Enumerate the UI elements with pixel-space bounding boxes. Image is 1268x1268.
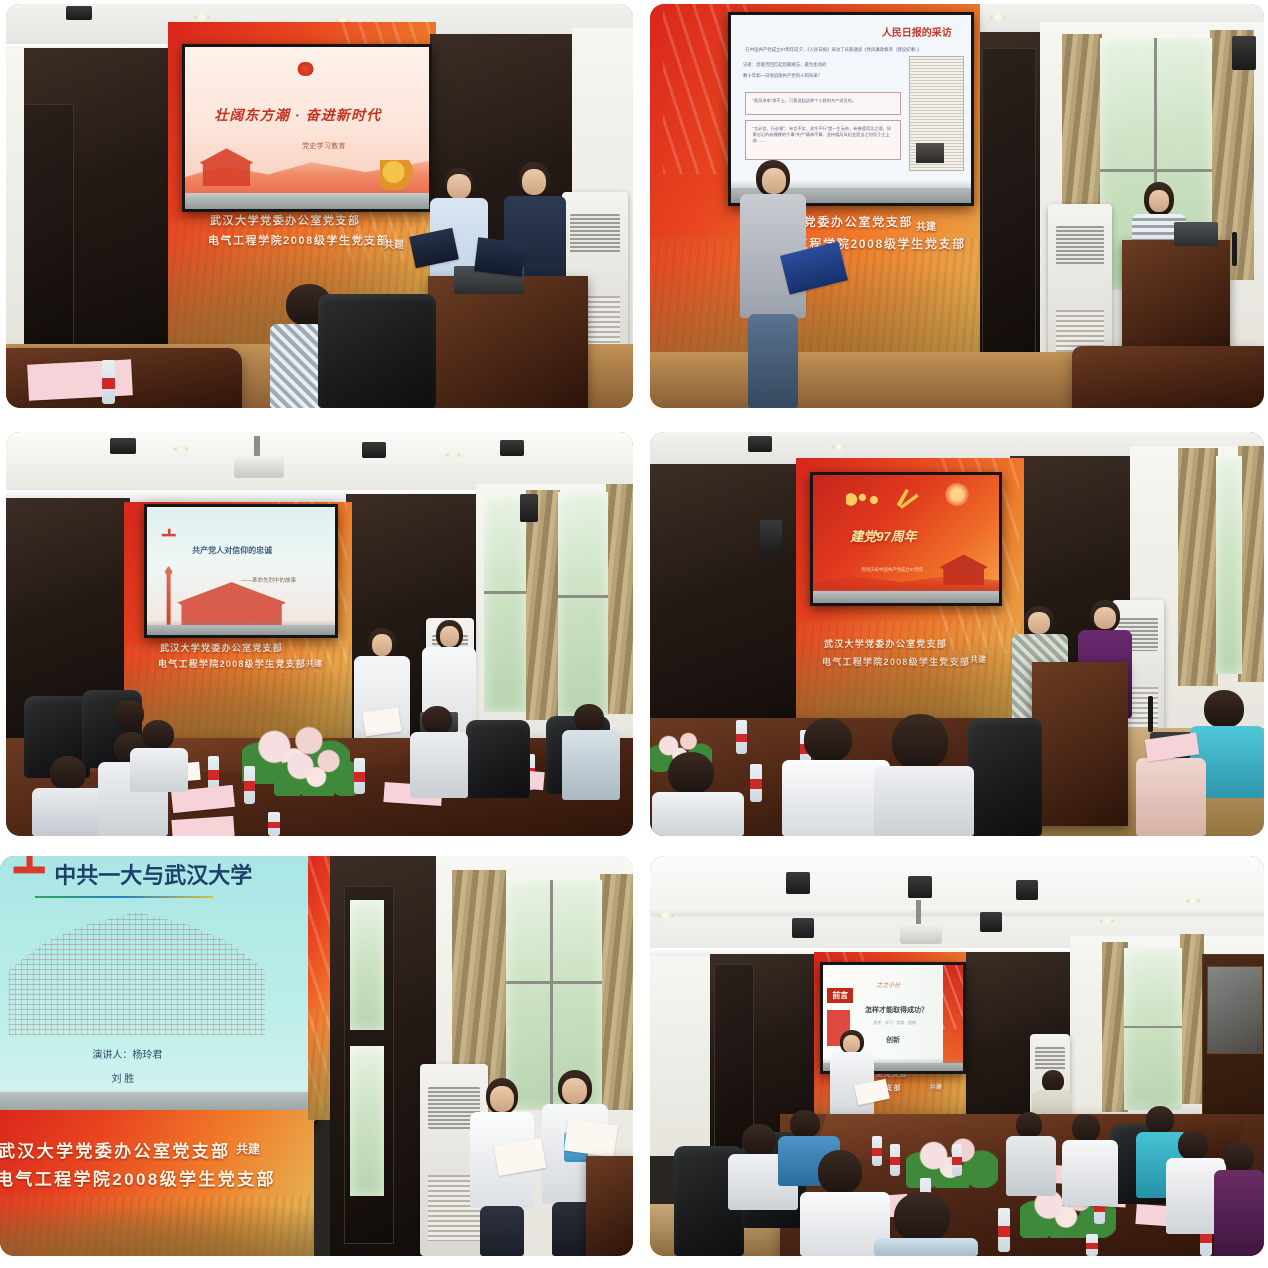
banner-line-2: 电气工程学院2008级学生党支部 (0, 1168, 276, 1193)
scene-5: 中共一大与武汉大学 演讲人：杨玲君 刘 胜 武汉大学党委办公室党支部 电气工程学… (0, 856, 633, 1256)
slide-line-1: 在中国共产党成立97周年前夕，《人民日报》采访了长期通读《党风廉政教育（建设纪事… (745, 47, 921, 53)
quote-box-2: "言必信、行必果"，有言不实、坐令不行"是一生无奈，有善德用功之理，如果忘记的赤… (745, 120, 901, 160)
water-bottle (268, 812, 280, 836)
head (1072, 1114, 1100, 1142)
torso (652, 792, 744, 836)
torso (32, 788, 108, 836)
ceiling-speaker (980, 912, 1002, 932)
attendee (130, 720, 188, 792)
water-bottle (998, 1208, 1010, 1252)
face (1149, 190, 1169, 212)
head (668, 752, 714, 794)
window (1216, 456, 1242, 674)
banner-line-1: 武汉大学党委办公室党支部 (0, 1140, 231, 1165)
handout (171, 816, 234, 836)
scene-4: 武汉大学党委办公室党支部 电气工程学院2008级学生党支部 共建 建党97周年 … (650, 432, 1264, 836)
banner-badge: 共建 (970, 654, 986, 665)
window (558, 492, 608, 716)
water-bottle (1086, 1234, 1098, 1256)
torso (1006, 1136, 1056, 1196)
window-mullion (558, 595, 608, 598)
head (1178, 1130, 1208, 1160)
attendee (562, 704, 620, 800)
divider (35, 896, 213, 898)
curtain (526, 490, 560, 720)
projector-mount (916, 900, 921, 926)
slide-line-3: 数十年如一日地追随共产党的人和风采？ (743, 73, 822, 79)
microphone[interactable] (1148, 696, 1153, 732)
slide-title: 壮阔东方潮 · 奋进新时代 (214, 105, 381, 125)
face (843, 1035, 860, 1053)
ceiling-speaker (786, 872, 810, 894)
downlight (658, 912, 674, 919)
window-mullion (484, 591, 526, 594)
flower-arrangement (274, 746, 362, 796)
attendee (32, 756, 108, 836)
newspaper-clipping (909, 56, 964, 171)
attendee (1006, 1112, 1056, 1196)
projection-screen-frame: 建党97周年 热烈庆祝中国共产党成立97周年 (810, 472, 1002, 606)
projection-screen: 共产党人对信仰的忠诚 ——革命先烈中的故事 (147, 507, 335, 635)
scene-2: 学党委办公室党支部 气工程学院2008级学生党支部 共建 人民日报的采访 在中国… (650, 4, 1264, 408)
attendee (874, 714, 974, 836)
slide-title: 建党97周年 (850, 526, 916, 545)
door[interactable] (982, 48, 1036, 360)
slide-quote-2: "言必信、行必果"，有言不实、坐令不行"是一生无奈，有善德用功之理，如果忘记的赤… (753, 126, 894, 145)
wall-dark-left (650, 464, 800, 740)
banner-badge: 共建 (306, 658, 322, 669)
slide-caption: 热烈庆祝中国共产党成立97周年 (861, 567, 923, 573)
slide-title: 共产党人对信仰的忠诚 (192, 545, 272, 556)
banner-line-2: 电气工程学院2008级学生党支部 (158, 658, 306, 671)
face (1094, 607, 1116, 629)
head (804, 718, 852, 762)
banner-line-1: 武汉大学党委办公室党支部 (210, 214, 360, 230)
party-emblem-icon (10, 856, 48, 891)
projection-screen-frame: 壮阔东方潮 · 奋进新时代 党史学习教育 (182, 44, 432, 212)
downlight (990, 14, 1006, 21)
head (422, 706, 452, 734)
laptop (1174, 222, 1218, 246)
face (762, 168, 786, 194)
script-paper (363, 708, 402, 737)
head (50, 756, 86, 790)
photo-top-left[interactable]: 武汉大学党委办公室党支部 电气工程学院2008级学生党支部 共建 壮阔东方潮 ·… (6, 4, 633, 408)
scene-6: 学党委办公室党支部 2008级学生党支部 共建 前言 之之小分 怎样才能取得成功… (650, 856, 1264, 1256)
podium (1122, 240, 1230, 352)
slide-line-2: 记者：您能否回忆起您最难忘、最为生动的 (743, 62, 826, 68)
party-emblem-icon (160, 527, 177, 542)
party-emblem-icon (297, 62, 314, 77)
slide-subtitle: 党史学习教育 (302, 141, 346, 151)
banner-badge: 共建 (384, 236, 404, 251)
face (522, 169, 546, 195)
scene-1: 武汉大学党委办公室党支部 电气工程学院2008级学生党支部 共建 壮阔东方潮 ·… (6, 4, 633, 408)
water-bottle (244, 766, 255, 804)
ceiling-speaker (66, 6, 92, 20)
banner-badge: 共建 (930, 1082, 942, 1091)
banner-line-1: 武汉大学党委办公室党支部 (160, 642, 283, 655)
photo-bottom-left[interactable]: 中共一大与武汉大学 演讲人：杨玲君 刘 胜 武汉大学党委办公室党支部 电气工程学… (0, 856, 633, 1256)
torso (130, 748, 188, 792)
banner-badge: 共建 (916, 218, 936, 233)
slide-script-text: 之之小分 (876, 980, 900, 989)
projection-screen: 壮阔东方潮 · 奋进新时代 党史学习教育 (185, 47, 429, 209)
stars-icon (846, 493, 887, 506)
water-bottle (736, 720, 747, 754)
curtain (606, 484, 633, 714)
backdrop-banner: 武汉大学党委办公室党支部 电气工程学院2008级学生党支部 共建 (0, 1110, 314, 1256)
torso (1136, 758, 1206, 836)
wall-speaker (520, 494, 538, 522)
ceiling-speaker (908, 876, 932, 898)
head (892, 714, 948, 770)
slide-question: 怎样才能取得成功？ (865, 1005, 928, 1015)
projector (900, 924, 942, 944)
ribbon-icon (380, 160, 414, 189)
slide-tag: 前言 (827, 988, 853, 1003)
legs (748, 314, 798, 408)
wall-speaker (1232, 36, 1256, 70)
ceiling-speaker (792, 918, 814, 938)
projector (234, 456, 284, 478)
screen-shadow (813, 588, 999, 603)
photo-bottom-right[interactable]: 学党委办公室党支部 2008级学生党支部 共建 前言 之之小分 怎样才能取得成功… (650, 856, 1264, 1256)
podium (586, 1156, 633, 1256)
attendee-right (1136, 748, 1206, 836)
window (484, 496, 526, 712)
chair[interactable] (968, 718, 1042, 836)
wall-light-left (6, 48, 24, 348)
window-mullion (506, 981, 602, 984)
downlight (174, 446, 188, 452)
downlight (1100, 918, 1114, 924)
face (562, 1078, 587, 1104)
downlight (1186, 898, 1200, 904)
projection-screen-frame: 中共一大与武汉大学 演讲人：杨玲君 刘 胜 (0, 856, 318, 1124)
slide-keyword: 创新 (886, 1035, 900, 1045)
slide-side-rays (943, 965, 963, 1029)
slide-title: 中共一大与武汉大学 (54, 858, 252, 890)
hammer-sickle-icon (895, 487, 919, 510)
attendee (652, 752, 744, 836)
slide-opening: 壮阔东方潮 · 奋进新时代 党史学习教育 (185, 47, 429, 209)
scene-3: 武汉大学党委办公室党支部 电气工程学院2008级学生党支部 共建 共产党人对信仰… (6, 432, 633, 836)
face (372, 634, 392, 656)
projection-screen: 中共一大与武汉大学 演讲人：杨玲君 刘 胜 (0, 856, 315, 1121)
backdrop-skyline (0, 1186, 314, 1256)
sun-icon (945, 483, 969, 506)
head (742, 1124, 776, 1156)
torso (874, 766, 974, 836)
head (574, 704, 604, 732)
slide-title: 人民日报的采访 (882, 24, 952, 39)
speaker-label: 演讲人：杨玲君 (92, 1046, 162, 1061)
water-bottle (750, 764, 762, 802)
water-bottle (890, 1144, 900, 1176)
slide-quote-1: "两风净车"承不上，只要说起这种个小我的共产党员的。 (753, 98, 856, 104)
downlight (832, 444, 846, 450)
ceiling-speaker (362, 442, 386, 458)
torso (1214, 1170, 1264, 1256)
legs (480, 1206, 524, 1256)
curtain (1180, 934, 1204, 1104)
door-window (350, 900, 384, 1030)
attendee (1062, 1114, 1118, 1206)
ceiling-speaker (1016, 880, 1038, 900)
projection-screen-frame: 共产党人对信仰的忠诚 ——革命先烈中的故事 (144, 504, 338, 638)
face (1028, 612, 1050, 634)
banner-line-2: 电气工程学院2008级学生党支部 (208, 234, 389, 250)
banner-line-1: 武汉大学党委办公室党支部 (824, 638, 947, 651)
head (1042, 1070, 1064, 1092)
chair[interactable] (466, 720, 530, 798)
banner-line-2: 电气工程学院2008级学生党支部 (822, 656, 970, 669)
conference-table (1072, 346, 1264, 408)
window (1124, 948, 1182, 1110)
head (894, 1192, 950, 1242)
microphone[interactable] (1232, 232, 1237, 266)
photo-middle-left[interactable]: 武汉大学党委办公室党支部 电气工程学院2008级学生党支部 共建 共产党人对信仰… (6, 432, 633, 836)
wall-speaker (760, 520, 782, 556)
ceiling-beam (650, 906, 1264, 914)
head (1016, 1112, 1042, 1138)
attendee (410, 706, 468, 798)
window-mullion (1124, 1026, 1182, 1028)
head (142, 720, 174, 750)
head (1204, 690, 1244, 728)
head (790, 1110, 820, 1138)
torso (874, 1238, 978, 1256)
head (1224, 1142, 1254, 1172)
slide-subtitle: ——革命先烈中的故事 (241, 576, 296, 584)
torso (1062, 1140, 1118, 1206)
wuhan-university-arch-graphic (3, 901, 270, 1035)
downlight (446, 452, 460, 458)
face (490, 1086, 514, 1112)
attendee (874, 1192, 978, 1256)
document-folder (474, 237, 526, 277)
water-bottle (952, 1144, 962, 1176)
script-paper (564, 1119, 618, 1158)
screen-shadow (185, 190, 429, 209)
handout (27, 359, 133, 400)
face (440, 626, 459, 647)
photo-middle-right[interactable]: 武汉大学党委办公室党支部 电气工程学院2008级学生党支部 共建 建党97周年 … (650, 432, 1264, 836)
chair[interactable] (318, 294, 436, 408)
ceiling-speaker (110, 438, 136, 454)
slide-anniversary: 建党97周年 热烈庆祝中国共产党成立97周年 (813, 475, 999, 603)
head (818, 1150, 862, 1194)
curtain (1178, 448, 1218, 686)
water-bottle (102, 360, 115, 404)
podium (428, 276, 588, 408)
monument-icon (162, 566, 175, 625)
screen-shadow (147, 620, 335, 635)
projection-screen: 建党97周年 热烈庆祝中国共产党成立97周年 (813, 475, 999, 603)
water-bottle (354, 758, 365, 794)
photo-collage: 武汉大学党委办公室党支部 电气工程学院2008级学生党支部 共建 壮阔东方潮 ·… (0, 0, 1268, 1268)
downlight (194, 14, 210, 21)
projector-mount (254, 436, 260, 458)
quote-box-1: "两风净车"承不上，只要说起这种个小我的共产党员的。 (745, 92, 901, 115)
torso (562, 730, 620, 800)
photo-top-right[interactable]: 学党委办公室党支部 气工程学院2008级学生党支部 共建 人民日报的采访 在中国… (650, 4, 1264, 408)
slide-lecture: 中共一大与武汉大学 演讲人：杨玲君 刘 胜 (0, 856, 315, 1121)
podium (1032, 662, 1128, 826)
attendee (1214, 1142, 1264, 1256)
slide-small-line: 思考 · 学习 · 实践 · 创新 (873, 1020, 916, 1026)
torso (410, 732, 468, 798)
banner-badge: 共建 (236, 1140, 260, 1157)
slide-topic: 共产党人对信仰的忠诚 ——革命先烈中的故事 (147, 507, 335, 635)
ceiling-speaker (500, 440, 524, 456)
door-window (350, 1046, 384, 1196)
ceiling-speaker (748, 436, 772, 452)
speaker-2-label: 刘 胜 (111, 1070, 134, 1085)
face (447, 174, 471, 199)
tiananmen-icon (200, 144, 254, 186)
